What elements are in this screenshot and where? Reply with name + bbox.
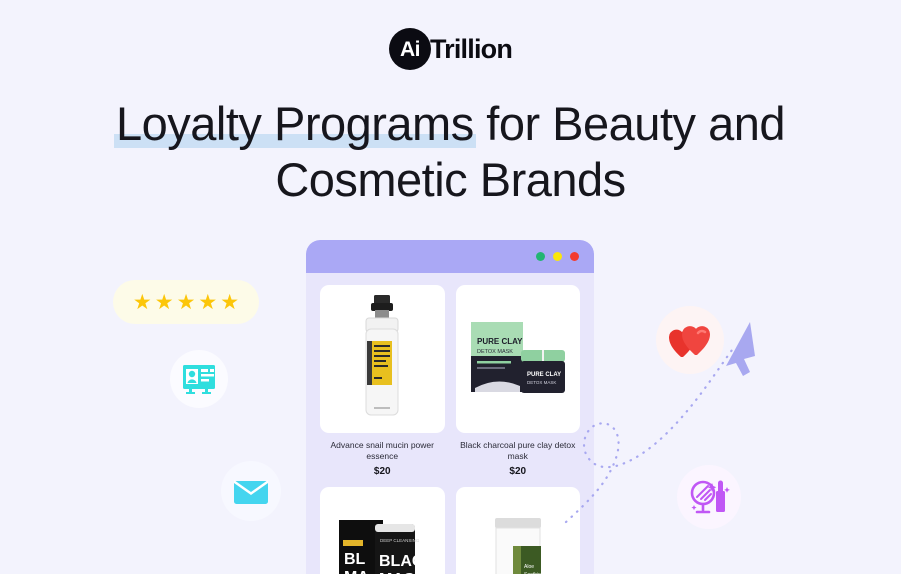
svg-text:Aloe: Aloe — [524, 564, 534, 570]
product-price: $20 — [456, 466, 581, 477]
brand-logo[interactable]: Ai Trillion — [0, 28, 901, 70]
rating-badge: ★ ★ ★ ★ ★ — [113, 280, 259, 324]
svg-text:DETOX MASK: DETOX MASK — [527, 380, 556, 385]
close-dot[interactable] — [570, 252, 579, 261]
svg-text:BL: BL — [344, 551, 366, 568]
logo-wordmark: Trillion — [430, 34, 512, 65]
page-root: Ai Trillion Loyalty Programs for Beauty … — [0, 0, 901, 574]
cosmetics-badge — [677, 465, 741, 529]
wishlist-badge — [656, 306, 724, 374]
membership-badge — [170, 350, 228, 408]
star-icon: ★ — [177, 292, 196, 313]
product-grid: Advance snail mucin power essence $20 PU… — [306, 273, 594, 574]
headline-highlighted: Loyalty Programs — [116, 96, 474, 152]
headline-rest: for Beauty and — [474, 97, 785, 150]
mirror-lipstick-icon — [688, 477, 730, 517]
product-image: BL MA DEEP CLEANSING BLACK MASK PEEL OFF — [320, 487, 445, 574]
email-badge — [221, 461, 281, 521]
product-image: PURE CLAY DETOX MASK PURE CLAY DETOX MAS… — [456, 285, 581, 433]
pump-bottle-icon — [330, 289, 434, 429]
logo-mark-icon: Ai — [389, 28, 431, 70]
product-card[interactable]: BL MA DEEP CLEANSING BLACK MASK PEEL OFF — [320, 487, 445, 574]
product-card[interactable]: Advance snail mucin power essence $20 — [320, 285, 445, 477]
star-icon: ★ — [220, 292, 239, 313]
hearts-icon — [668, 320, 712, 360]
product-card[interactable]: Aloe Soothing foam — [456, 487, 581, 574]
star-icon: ★ — [133, 292, 152, 313]
svg-text:DEEP CLEANSING: DEEP CLEANSING — [380, 538, 420, 543]
star-icon: ★ — [155, 292, 174, 313]
svg-text:PURE CLAY: PURE CLAY — [477, 337, 523, 346]
page-title: Loyalty Programs for Beauty and Cosmetic… — [0, 96, 901, 208]
headline-line2: Cosmetic Brands — [275, 153, 625, 206]
product-name: Advance snail mucin power essence — [320, 440, 445, 462]
product-price: $20 — [320, 466, 445, 477]
product-image: Aloe Soothing foam — [456, 487, 581, 574]
product-image — [320, 285, 445, 433]
svg-text:BLACK: BLACK — [379, 553, 435, 570]
soothing-tube-icon: Aloe Soothing foam — [463, 506, 573, 574]
browser-mockup: Advance snail mucin power essence $20 PU… — [306, 240, 594, 574]
black-mask-box-tube-icon: BL MA DEEP CLEANSING BLACK MASK PEEL OFF — [327, 506, 437, 574]
product-card[interactable]: PURE CLAY DETOX MASK PURE CLAY DETOX MAS… — [456, 285, 581, 477]
maximize-dot[interactable] — [553, 252, 562, 261]
arrow-cursor-icon — [726, 322, 755, 376]
clay-mask-box-jar-icon: PURE CLAY DETOX MASK PURE CLAY DETOX MAS… — [463, 304, 573, 414]
product-name: Black charcoal pure clay detox mask — [456, 440, 581, 462]
browser-titlebar — [306, 240, 594, 273]
envelope-icon — [232, 476, 270, 506]
svg-text:PURE CLAY: PURE CLAY — [527, 372, 561, 378]
svg-text:MA: MA — [344, 569, 369, 574]
id-card-icon — [182, 364, 216, 394]
star-icon: ★ — [198, 292, 217, 313]
svg-text:DETOX MASK: DETOX MASK — [477, 349, 513, 355]
minimize-dot[interactable] — [536, 252, 545, 261]
